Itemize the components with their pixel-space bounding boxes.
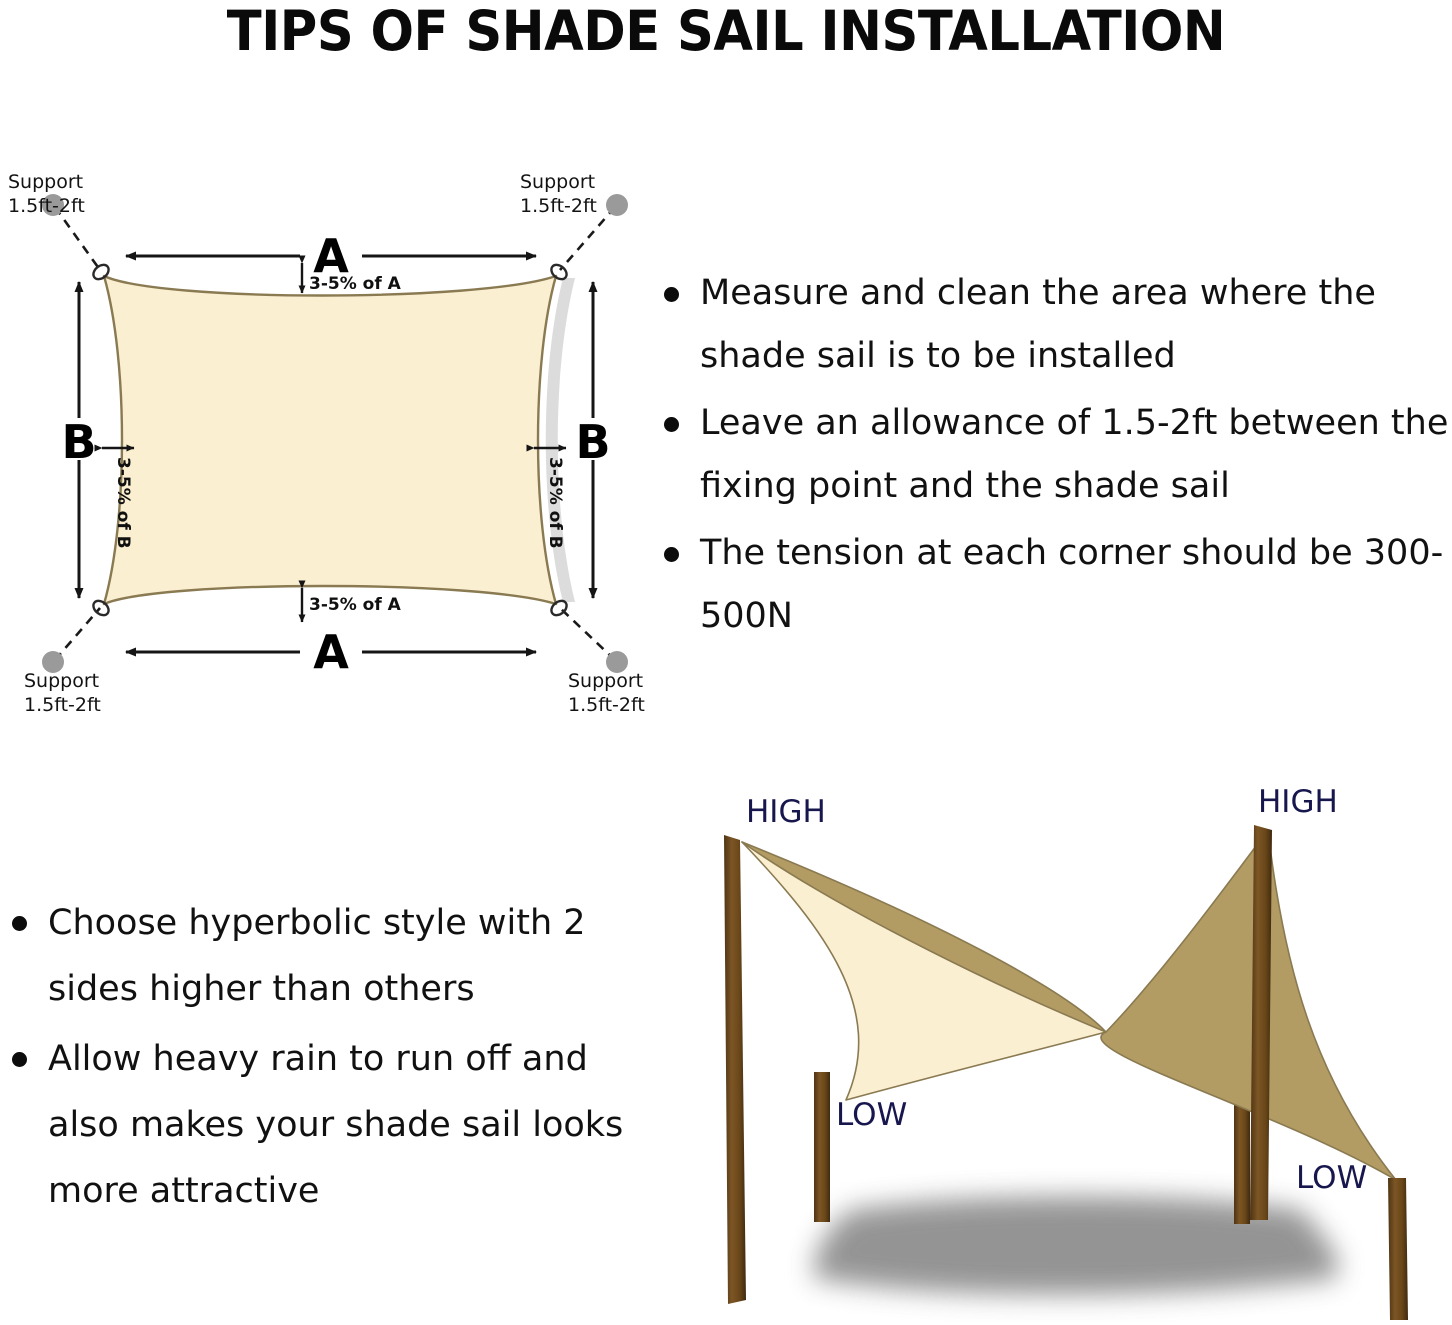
rectangular-sail-diagram: Support 1.5ft-2ft Support 1.5ft-2ft Supp… — [0, 160, 660, 730]
label-low-right: LOW — [1296, 1160, 1367, 1196]
dimension-label-b-left: B — [61, 415, 96, 469]
label-high-right: HIGH — [1258, 784, 1338, 820]
curvature-label-bottom: 3-5% of A — [309, 595, 402, 615]
list-item: Measure and clean the area where the sha… — [648, 262, 1452, 388]
support-label-bottom-right: Support 1.5ft-2ft — [568, 670, 645, 716]
support-label-line1: Support — [520, 171, 595, 193]
hyperbolic-sail-diagram: HIGH HIGH LOW LOW — [636, 780, 1452, 1325]
label-low-left: LOW — [836, 1097, 907, 1133]
sail-body — [104, 276, 556, 604]
support-label-line2: 1.5ft-2ft — [520, 195, 597, 217]
support-label-bottom-left: Support 1.5ft-2ft — [24, 670, 101, 716]
support-label-line2: 1.5ft-2ft — [24, 694, 101, 716]
pole-high-left — [724, 835, 746, 1304]
sail-edge-shadow — [546, 278, 575, 602]
support-label-line2: 1.5ft-2ft — [8, 195, 85, 217]
dimension-a-top: A 3-5% of A — [126, 229, 536, 294]
dimension-a-bottom: A 3-5% of A — [126, 588, 536, 679]
support-label-line1: Support — [568, 670, 643, 692]
list-item: The tension at each corner should be 300… — [648, 522, 1452, 648]
support-label-line2: 1.5ft-2ft — [568, 694, 645, 716]
dimension-label-a-bottom: A — [313, 625, 349, 679]
curvature-label-top: 3-5% of A — [309, 274, 402, 294]
support-label-line1: Support — [8, 171, 83, 193]
list-item: Allow heavy rain to run off and also mak… — [0, 1026, 630, 1224]
curvature-label-left: 3-5% of B — [113, 457, 133, 549]
page-title: TIPS OF SHADE SAIL INSTALLATION — [51, 0, 1401, 62]
curvature-label-right: 3-5% of B — [545, 457, 565, 549]
list-item: Choose hyperbolic style with 2 sides hig… — [0, 890, 630, 1022]
sail-cream-sheet — [742, 842, 1106, 1100]
support-label-line1: Support — [24, 670, 99, 692]
hyperbolic-style-list: Choose hyperbolic style with 2 sides hig… — [0, 890, 630, 1230]
pole-low-left — [814, 1072, 830, 1222]
support-label-top-left: Support 1.5ft-2ft — [8, 171, 85, 217]
installation-tips-list: Measure and clean the area where the sha… — [648, 262, 1452, 662]
support-label-top-right: Support 1.5ft-2ft — [520, 171, 597, 217]
pole-low-right — [1388, 1178, 1408, 1320]
list-item: Leave an allowance of 1.5-2ft between th… — [648, 392, 1452, 518]
dimension-label-b-right: B — [575, 415, 610, 469]
label-high-left: HIGH — [746, 794, 826, 830]
